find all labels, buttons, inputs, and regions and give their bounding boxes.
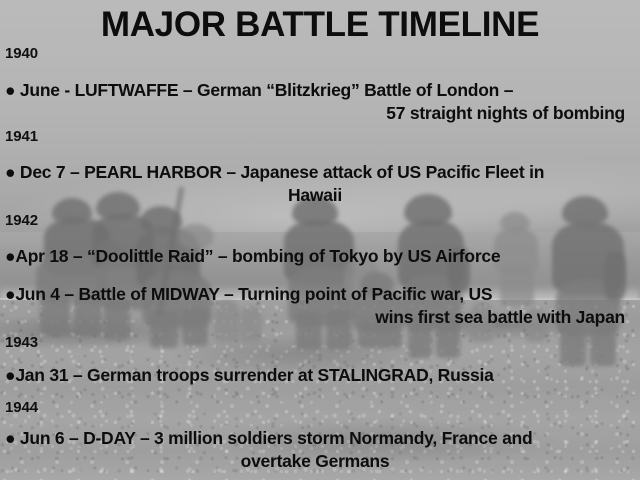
year-label-1940: 1940 — [5, 45, 38, 62]
entry-line-1: ●Jun 4 – Battle of MIDWAY – Turning poin… — [5, 283, 625, 306]
year-label-1941: 1941 — [5, 128, 38, 145]
entry-line-2: Hawaii — [5, 184, 625, 207]
timeline-entry-1942-midway: ●Jun 4 – Battle of MIDWAY – Turning poin… — [5, 283, 625, 329]
entry-line-1: ● June - LUFTWAFFE – German “Blitzkrieg”… — [5, 79, 625, 102]
entry-line-2: wins first sea battle with Japan — [5, 306, 625, 329]
timeline-entry-1944: ● Jun 6 – D-DAY – 3 million soldiers sto… — [5, 427, 625, 473]
year-label-1943: 1943 — [5, 334, 38, 351]
entry-line-1: ●Apr 18 – “Doolittle Raid” – bombing of … — [5, 245, 625, 268]
entry-line-1: ● Jun 6 – D-DAY – 3 million soldiers sto… — [5, 427, 625, 450]
timeline-entry-1940: ● June - LUFTWAFFE – German “Blitzkrieg”… — [5, 79, 625, 125]
year-label-1942: 1942 — [5, 212, 38, 229]
entry-line-1: ●Jan 31 – German troops surrender at STA… — [5, 364, 625, 387]
entry-line-2: overtake Germans — [5, 450, 625, 473]
slide-text-content: MAJOR BATTLE TIMELINE 1940 ● June - LUFT… — [0, 0, 640, 480]
entry-line-2: 57 straight nights of bombing — [5, 102, 625, 125]
timeline-entry-1943: ●Jan 31 – German troops surrender at STA… — [5, 364, 625, 387]
timeline-entry-1942-doolittle: ●Apr 18 – “Doolittle Raid” – bombing of … — [5, 245, 625, 268]
timeline-entry-1941: ● Dec 7 – PEARL HARBOR – Japanese attack… — [5, 161, 625, 207]
entry-line-1: ● Dec 7 – PEARL HARBOR – Japanese attack… — [5, 161, 625, 184]
year-label-1944: 1944 — [5, 399, 38, 416]
slide-canvas: MAJOR BATTLE TIMELINE 1940 ● June - LUFT… — [0, 0, 640, 480]
page-title: MAJOR BATTLE TIMELINE — [0, 6, 640, 44]
